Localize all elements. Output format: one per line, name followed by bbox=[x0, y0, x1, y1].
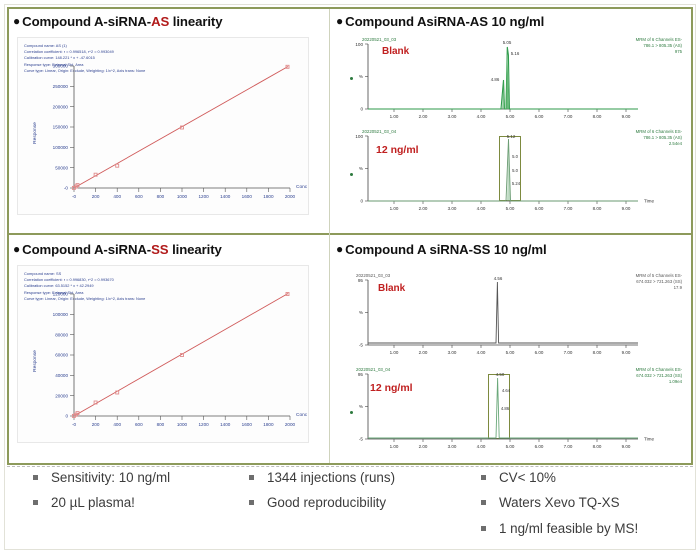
svg-text:4.86: 4.86 bbox=[501, 406, 510, 411]
svg-text:3.00: 3.00 bbox=[448, 114, 457, 119]
svg-text:Conc: Conc bbox=[296, 412, 308, 418]
svg-text:2.00: 2.00 bbox=[419, 206, 428, 211]
title-highlight: SS bbox=[151, 242, 168, 257]
svg-text:7.00: 7.00 bbox=[564, 114, 573, 119]
svg-text:3.00: 3.00 bbox=[448, 350, 457, 355]
svg-text:-0: -0 bbox=[64, 186, 69, 191]
svg-text:4.86: 4.86 bbox=[491, 77, 500, 82]
panel-ss-linearity: ●Compound A-siRNA-SS linearity Compound … bbox=[9, 237, 327, 463]
title-bold: 10 ng/ml bbox=[491, 14, 544, 29]
svg-text:8.00: 8.00 bbox=[593, 350, 602, 355]
svg-text:-5: -5 bbox=[359, 343, 364, 348]
panel-as-linearity: ●Compound A-siRNA-AS linearity Compound … bbox=[9, 9, 327, 231]
svg-text:6.00: 6.00 bbox=[535, 444, 544, 449]
svg-text:5.24: 5.24 bbox=[512, 181, 521, 186]
panel-as-chromatograms: ●Compound AsiRNA-AS 10 ng/ml 20220521_03… bbox=[332, 9, 691, 231]
svg-text:1800: 1800 bbox=[263, 422, 274, 427]
slide-root: ●Compound A-siRNA-AS linearity Compound … bbox=[0, 0, 700, 554]
svg-text:4.64: 4.64 bbox=[502, 388, 511, 393]
svg-text:20000: 20000 bbox=[55, 393, 68, 398]
svg-text:6.00: 6.00 bbox=[535, 114, 544, 119]
svg-text:Time: Time bbox=[644, 437, 654, 442]
svg-text:%: % bbox=[359, 310, 363, 315]
svg-text:150000: 150000 bbox=[53, 125, 69, 130]
vertical-divider bbox=[329, 9, 330, 463]
title-suffix: linearity bbox=[169, 14, 222, 29]
svg-text:%: % bbox=[359, 166, 363, 171]
svg-text:4.00: 4.00 bbox=[477, 444, 486, 449]
svg-text:2.00: 2.00 bbox=[419, 444, 428, 449]
ss-blank-chart: 95 % -5 1.002.003.00 4.005.006.00 7.008.… bbox=[338, 271, 686, 361]
svg-text:Response: Response bbox=[32, 122, 38, 144]
svg-text:1200: 1200 bbox=[198, 194, 209, 199]
as-calibration-card: Compound name: AS (1) Correlation coeffi… bbox=[17, 37, 309, 215]
svg-text:2000: 2000 bbox=[285, 422, 296, 427]
svg-text:1400: 1400 bbox=[220, 422, 231, 427]
ss-linearity-chart: 0 20000 40000 60000 80000 100000 120000 bbox=[18, 266, 309, 443]
svg-text:Conc: Conc bbox=[296, 184, 308, 190]
title-prefix: Compound A-siRNA- bbox=[22, 14, 151, 29]
ss-blank-trace: 20220521_03_03 MRM of 5 Channels ES- 674… bbox=[338, 271, 686, 361]
svg-text:5.00: 5.00 bbox=[506, 114, 515, 119]
svg-text:Time: Time bbox=[644, 199, 654, 204]
svg-text:800: 800 bbox=[157, 422, 165, 427]
svg-text:80000: 80000 bbox=[55, 332, 68, 337]
svg-text:100000: 100000 bbox=[53, 145, 69, 150]
list-item: Good reproducibility bbox=[245, 495, 465, 510]
footer-bullets: Sensitivity: 10 ng/ml 20 µL plasma! 1344… bbox=[7, 470, 693, 546]
bullet-dot-icon: ● bbox=[336, 242, 343, 256]
svg-text:8.00: 8.00 bbox=[593, 444, 602, 449]
svg-text:8.00: 8.00 bbox=[593, 114, 602, 119]
panel-title-ss-chrom: ●Compound A siRNA-SS 10 ng/ml bbox=[336, 242, 691, 257]
list-item: 20 µL plasma! bbox=[29, 495, 239, 510]
svg-text:4.00: 4.00 bbox=[477, 206, 486, 211]
svg-text:600: 600 bbox=[135, 194, 143, 199]
as-linearity-chart: -0 50000 100000 150000 200000 250000 300… bbox=[18, 38, 309, 215]
panel-title-as-linearity: ●Compound A-siRNA-AS linearity bbox=[13, 14, 327, 29]
svg-text:5.12: 5.12 bbox=[507, 134, 516, 139]
list-item: Waters Xevo TQ-XS bbox=[477, 495, 697, 510]
bullet-dot-icon: ● bbox=[13, 14, 20, 28]
svg-text:%: % bbox=[359, 404, 363, 409]
svg-text:7.00: 7.00 bbox=[564, 350, 573, 355]
svg-text:1.00: 1.00 bbox=[390, 444, 399, 449]
svg-text:-0: -0 bbox=[72, 194, 77, 199]
svg-text:0: 0 bbox=[360, 199, 363, 204]
svg-text:1800: 1800 bbox=[263, 194, 274, 199]
as-blank-chart: 100 % 0 1.002.003.00 4.005.006.00 7.008.… bbox=[338, 35, 686, 125]
title-prefix: Compound A siRNA-SS bbox=[345, 242, 494, 257]
svg-text:Response: Response bbox=[32, 350, 38, 372]
list-item: CV< 10% bbox=[477, 470, 697, 485]
svg-text:120000: 120000 bbox=[53, 292, 69, 297]
svg-text:3.00: 3.00 bbox=[448, 206, 457, 211]
ss-conc-chart: 95 % -5 1.002.003.00 4.005.006.00 7.008.… bbox=[338, 365, 686, 455]
svg-text:0: 0 bbox=[65, 414, 68, 419]
panel-title-ss-linearity: ●Compound A-siRNA-SS linearity bbox=[13, 242, 327, 257]
svg-text:1000: 1000 bbox=[177, 422, 188, 427]
svg-text:1200: 1200 bbox=[198, 422, 209, 427]
as-blank-trace: 20220521_03_03 MRM of 6 Channels ES- 786… bbox=[338, 35, 686, 125]
svg-text:100: 100 bbox=[355, 134, 363, 139]
svg-text:5.0: 5.0 bbox=[512, 168, 518, 173]
svg-text:100000: 100000 bbox=[53, 312, 69, 317]
svg-text:5.0: 5.0 bbox=[512, 154, 518, 159]
svg-text:4.50: 4.50 bbox=[496, 372, 505, 377]
title-highlight: AS bbox=[151, 14, 169, 29]
svg-text:6.00: 6.00 bbox=[535, 206, 544, 211]
panel-ss-chromatograms: ●Compound A siRNA-SS 10 ng/ml 20220521_0… bbox=[332, 237, 691, 463]
svg-text:2.00: 2.00 bbox=[419, 114, 428, 119]
svg-text:4.56: 4.56 bbox=[494, 276, 503, 281]
footer-column-2: 1344 injections (runs) Good reproducibil… bbox=[245, 470, 465, 521]
svg-text:60000: 60000 bbox=[55, 353, 68, 358]
svg-text:1600: 1600 bbox=[242, 194, 253, 199]
svg-text:9.00: 9.00 bbox=[622, 206, 631, 211]
footer-column-1: Sensitivity: 10 ng/ml 20 µL plasma! bbox=[29, 470, 239, 521]
svg-text:1000: 1000 bbox=[177, 194, 188, 199]
list-item: 1344 injections (runs) bbox=[245, 470, 465, 485]
svg-text:300000: 300000 bbox=[53, 64, 69, 69]
svg-text:8.00: 8.00 bbox=[593, 206, 602, 211]
title-prefix: Compound A-siRNA- bbox=[22, 242, 151, 257]
svg-text:5.05: 5.05 bbox=[503, 40, 512, 45]
svg-text:2.00: 2.00 bbox=[419, 350, 428, 355]
svg-text:5.00: 5.00 bbox=[506, 350, 515, 355]
svg-text:7.00: 7.00 bbox=[564, 444, 573, 449]
list-item: Sensitivity: 10 ng/ml bbox=[29, 470, 239, 485]
as-conc-chart: 100 % 0 1.002.003.00 4.005.006.00 7.008.… bbox=[338, 127, 686, 217]
svg-text:1.00: 1.00 bbox=[390, 206, 399, 211]
svg-text:50000: 50000 bbox=[55, 165, 68, 170]
svg-text:1.00: 1.00 bbox=[390, 114, 399, 119]
ss-calibration-card: Compound name: SS Correlation coefficien… bbox=[17, 265, 309, 443]
title-prefix: Compound AsiRNA-AS bbox=[345, 14, 491, 29]
svg-text:250000: 250000 bbox=[53, 84, 69, 89]
svg-text:3.00: 3.00 bbox=[448, 444, 457, 449]
svg-text:0: 0 bbox=[360, 107, 363, 112]
svg-text:9.00: 9.00 bbox=[622, 350, 631, 355]
svg-text:5.00: 5.00 bbox=[506, 444, 515, 449]
svg-text:200: 200 bbox=[92, 194, 100, 199]
svg-text:95: 95 bbox=[358, 278, 364, 283]
footer-separator bbox=[7, 466, 693, 467]
horizontal-divider bbox=[7, 233, 693, 235]
svg-text:4.00: 4.00 bbox=[477, 350, 486, 355]
ss-conc-trace: 20220521_03_04 MRM of 5 Channels ES- 674… bbox=[338, 365, 686, 455]
svg-text:400: 400 bbox=[113, 422, 121, 427]
title-suffix: linearity bbox=[169, 242, 222, 257]
svg-text:-5: -5 bbox=[359, 437, 364, 442]
svg-text:7.00: 7.00 bbox=[564, 206, 573, 211]
footer-column-3: CV< 10% Waters Xevo TQ-XS 1 ng/ml feasib… bbox=[477, 470, 697, 546]
svg-text:200000: 200000 bbox=[53, 104, 69, 109]
svg-text:-0: -0 bbox=[72, 422, 77, 427]
svg-text:1.00: 1.00 bbox=[390, 350, 399, 355]
svg-text:5.00: 5.00 bbox=[506, 206, 515, 211]
panel-title-as-chrom: ●Compound AsiRNA-AS 10 ng/ml bbox=[336, 14, 691, 29]
svg-text:9.00: 9.00 bbox=[622, 444, 631, 449]
svg-text:800: 800 bbox=[157, 194, 165, 199]
list-item: 1 ng/ml feasible by MS! bbox=[477, 521, 697, 536]
bullet-dot-icon: ● bbox=[336, 14, 343, 28]
as-conc-trace: 20220521_03_04 MRM of 6 Channels ES- 786… bbox=[338, 127, 686, 217]
svg-text:6.00: 6.00 bbox=[535, 350, 544, 355]
svg-text:40000: 40000 bbox=[55, 373, 68, 378]
svg-text:5.16: 5.16 bbox=[511, 51, 520, 56]
svg-text:1600: 1600 bbox=[242, 422, 253, 427]
svg-text:95: 95 bbox=[358, 372, 364, 377]
svg-text:600: 600 bbox=[135, 422, 143, 427]
svg-text:9.00: 9.00 bbox=[622, 114, 631, 119]
svg-text:2000: 2000 bbox=[285, 194, 296, 199]
svg-text:200: 200 bbox=[92, 422, 100, 427]
svg-text:1400: 1400 bbox=[220, 194, 231, 199]
bullet-dot-icon: ● bbox=[13, 242, 20, 256]
svg-text:100: 100 bbox=[355, 42, 363, 47]
svg-text:%: % bbox=[359, 74, 363, 79]
svg-text:4.00: 4.00 bbox=[477, 114, 486, 119]
title-bold: 10 ng/ml bbox=[494, 242, 547, 257]
svg-text:400: 400 bbox=[113, 194, 121, 199]
